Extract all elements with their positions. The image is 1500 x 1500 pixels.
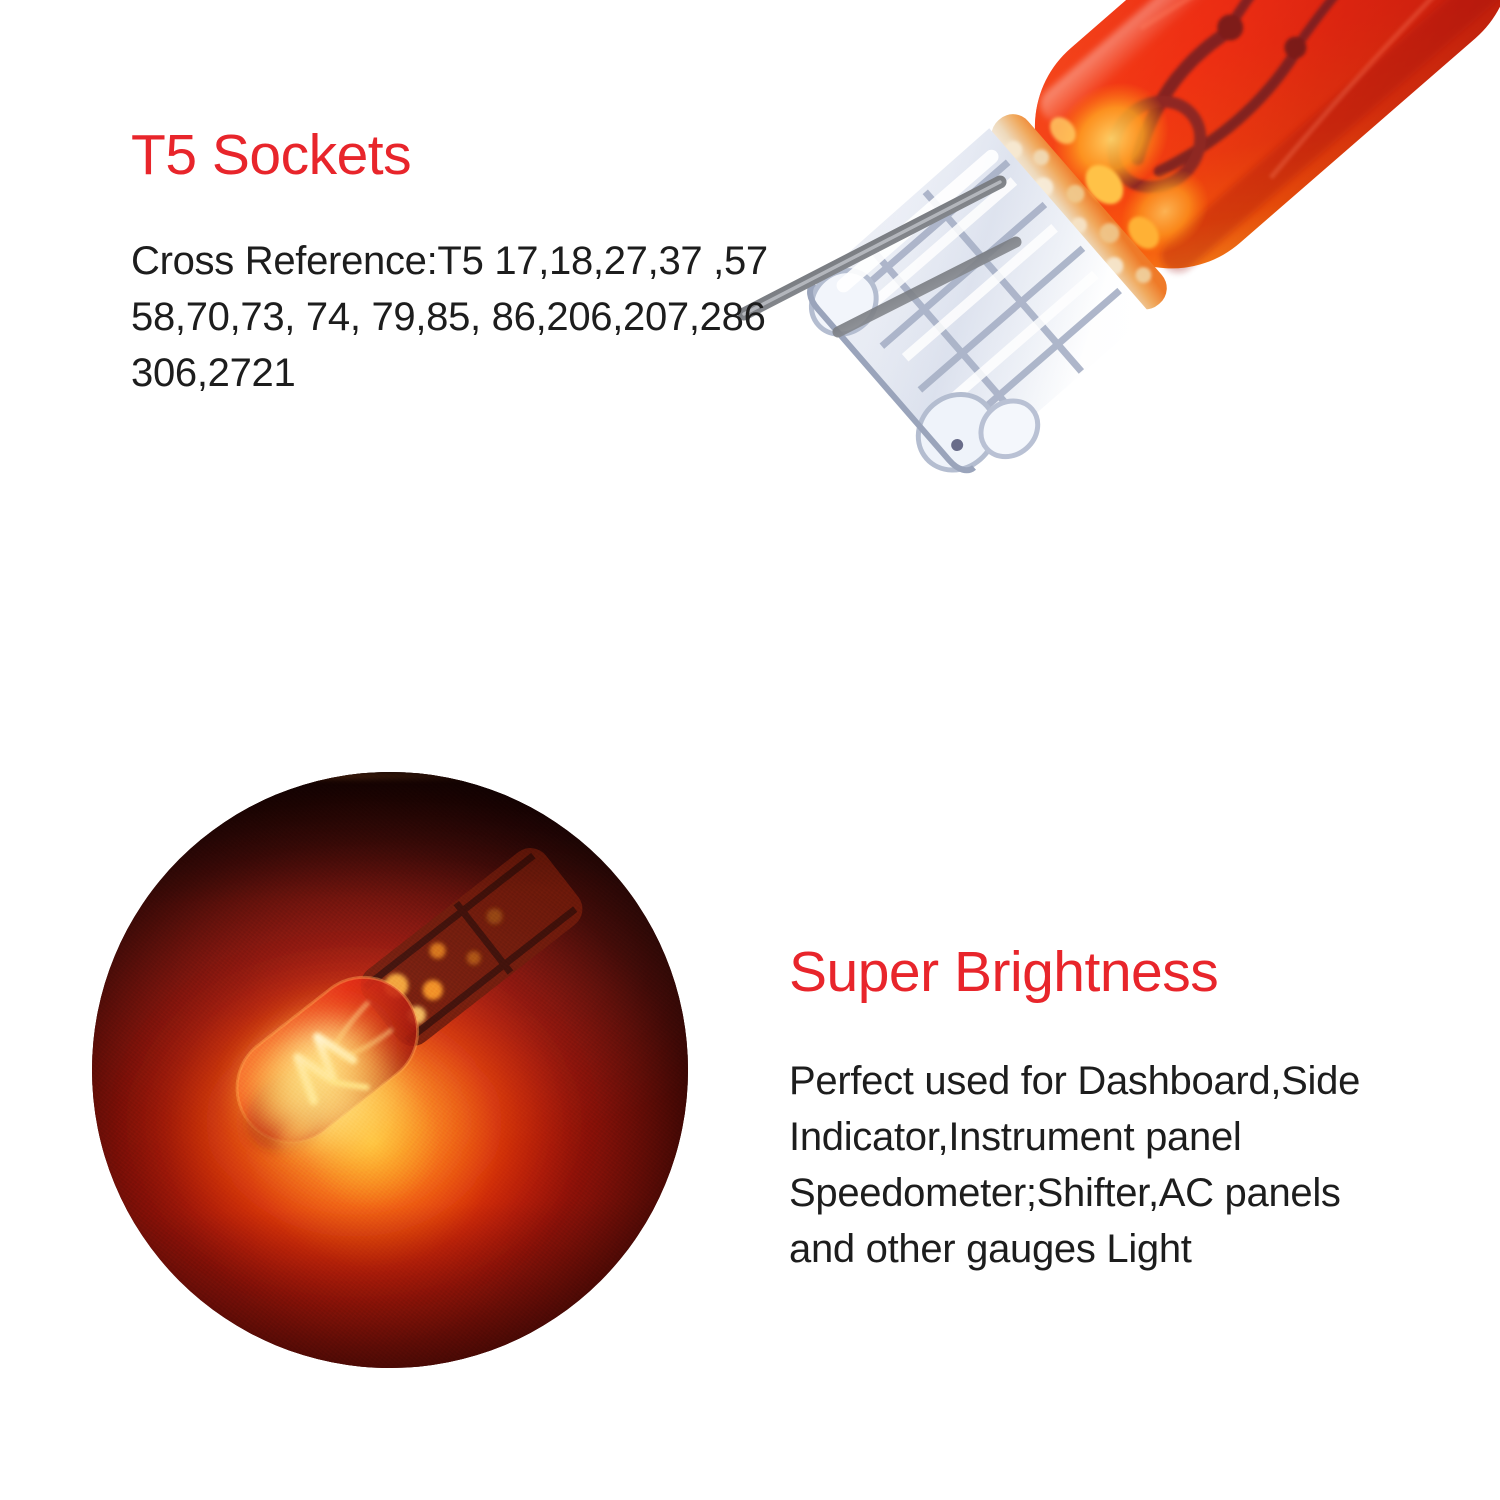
usage-line-4: and other gauges Light <box>789 1221 1469 1277</box>
cross-reference-line-2: 58,70,73, 74, 79,85, 86,206,207,286 <box>131 289 901 345</box>
cross-reference-text: Cross Reference:T5 17,18,27,37 ,57 58,70… <box>131 233 901 401</box>
usage-line-2: Indicator,Instrument panel <box>789 1109 1469 1165</box>
cross-reference-line-3: 306,2721 <box>131 345 901 401</box>
usage-description-text: Perfect used for Dashboard,Side Indicato… <box>789 1053 1469 1277</box>
section-heading-t5-sockets: T5 Sockets <box>131 124 411 186</box>
bulb-red-envelope <box>992 0 1500 311</box>
infographic-canvas: T5 Sockets Cross Reference:T5 17,18,27,3… <box>0 0 1500 1500</box>
bulb-frit-band <box>983 85 1199 318</box>
section-heading-super-brightness: Super Brightness <box>789 941 1218 1003</box>
usage-line-1: Perfect used for Dashboard,Side <box>789 1053 1469 1109</box>
cross-reference-line-1: Cross Reference:T5 17,18,27,37 ,57 <box>131 233 901 289</box>
illuminated-bulb-circle-photo <box>92 772 688 1368</box>
glow-grain-layer <box>92 772 688 1368</box>
usage-line-3: Speedometer;Shifter,AC panels <box>789 1165 1469 1221</box>
